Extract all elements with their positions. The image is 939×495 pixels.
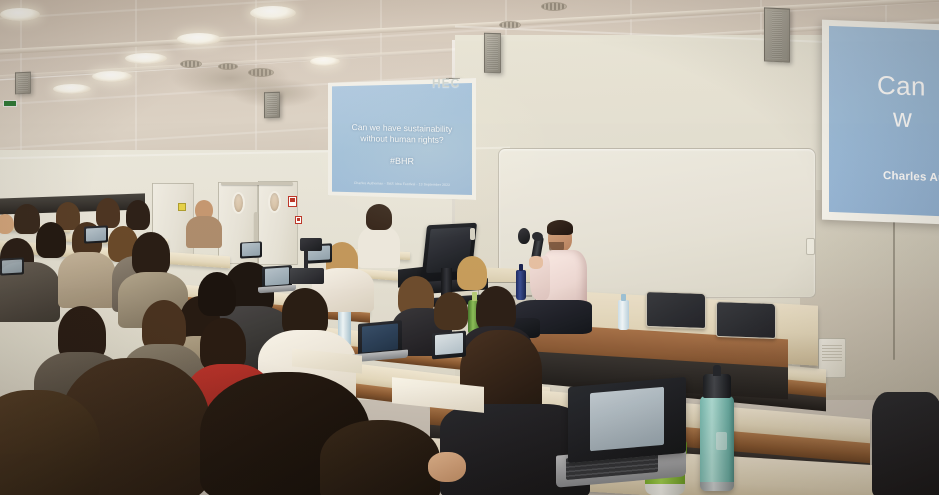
dark-blue-bottle	[516, 270, 526, 300]
wall-speaker	[764, 7, 790, 62]
ceiling-vent	[541, 2, 567, 11]
fire-alarm-button[interactable]	[295, 216, 302, 224]
stage-chair[interactable]	[716, 301, 776, 339]
audience-head	[0, 214, 14, 234]
yellow-hazard-sign	[178, 203, 186, 211]
bottle-base-band	[700, 482, 734, 491]
secondary-projection-screen: Can w Charles Au	[822, 20, 939, 225]
audience-body	[186, 216, 222, 248]
laptop-screen	[0, 257, 24, 275]
slide-hashtag: #BHR	[338, 155, 466, 168]
lecture-hall-photo: Can we have sustainability without human…	[0, 0, 939, 495]
audience-hair	[198, 272, 236, 316]
laptop-screen	[84, 225, 108, 243]
audience-hair	[132, 232, 170, 276]
presenter-hair	[547, 220, 573, 235]
wall-hook	[470, 228, 475, 240]
audience-body	[358, 226, 400, 268]
laptop-screen	[240, 241, 262, 258]
audience-hair	[96, 198, 120, 228]
fire-alarm-sign	[288, 196, 297, 207]
audience-hair	[434, 292, 468, 330]
slide-speaker-name: Charles Au	[883, 170, 939, 184]
ceiling-downlight	[177, 33, 221, 45]
foreground-laptop-lid[interactable]	[568, 377, 686, 463]
audience-hair	[14, 204, 40, 234]
slide-title-right-line1: Can	[877, 70, 926, 103]
wall-speaker	[484, 33, 501, 74]
mint-water-bottle	[700, 396, 734, 491]
audience-body	[58, 252, 116, 308]
laptop-screen	[432, 331, 466, 360]
presenter-hand	[529, 256, 543, 269]
audience-hair	[457, 256, 487, 290]
wall-speaker	[264, 92, 280, 119]
slide-surface-right: Can w Charles Au	[829, 26, 939, 217]
ceiling-downlight	[250, 6, 296, 20]
stage-chair[interactable]	[646, 291, 706, 329]
white-bottle	[618, 300, 629, 330]
foreground-shoulder	[320, 420, 440, 495]
ceiling-downlight	[0, 8, 40, 21]
ceiling-downlight	[310, 57, 340, 66]
wall-speaker	[15, 72, 31, 95]
door-closer-bar	[221, 182, 293, 185]
slide-footer: Charles Autheman - SAS Idea Festival - 1…	[344, 181, 460, 187]
bottle-cap	[703, 374, 731, 398]
foreground-laptop-screen	[590, 387, 664, 451]
hec-logo: HEC	[432, 76, 466, 92]
slide-surface: Can we have sustainability without human…	[332, 83, 472, 195]
audience-hair	[366, 204, 392, 230]
door-window-oval	[268, 191, 281, 213]
main-projection-screen: Can we have sustainability without human…	[328, 78, 476, 200]
slide-title-right-line2: w	[893, 102, 912, 134]
exit-sign	[3, 100, 17, 107]
bottle-sticker	[716, 432, 727, 450]
whiteboard-clip	[806, 238, 815, 255]
slide-title: Can we have sustainability without human…	[338, 122, 466, 146]
ceiling-downlight	[92, 71, 132, 82]
door-window-oval	[232, 192, 245, 214]
ceiling-downlight	[53, 84, 91, 94]
equipment-case	[290, 268, 324, 284]
foreground-hand-left	[428, 452, 466, 482]
audience-hair	[126, 200, 150, 230]
foreground-person-right	[872, 392, 939, 495]
ceiling-downlight	[125, 53, 167, 64]
wall-camera	[518, 228, 530, 244]
audience-hair	[36, 222, 66, 258]
